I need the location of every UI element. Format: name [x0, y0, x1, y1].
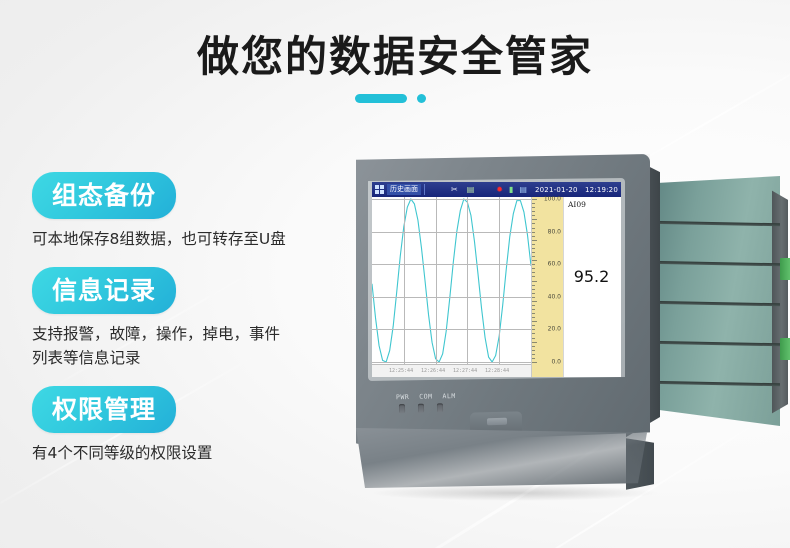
y-axis-tick-mark	[532, 219, 537, 220]
toolbar-datetime: 2021-01-20 12:19:20	[535, 186, 618, 194]
trend-chart: 12:25:4412:26:4412:27:4412:28:44 0.020.0…	[372, 197, 621, 377]
plot-area: 12:25:4412:26:4412:27:4412:28:44	[372, 197, 531, 377]
y-axis-tick-mark	[532, 199, 537, 200]
feature-description-logging: 支持报警，故障，操作，掉电，事件 列表等信息记录	[32, 323, 352, 370]
channel-value: 95.2	[564, 267, 619, 286]
time-axis: 12:25:4412:26:4412:27:4412:28:44	[372, 364, 531, 377]
gridline-horizontal	[372, 199, 531, 200]
y-axis-tick-mark	[532, 203, 535, 204]
feature-badge-logging: 信息记录	[32, 267, 176, 314]
y-axis-tick-mark	[532, 268, 535, 269]
y-axis-tick-mark	[532, 354, 535, 355]
y-axis-tick-mark	[532, 325, 535, 326]
y-axis-tick-mark	[532, 342, 537, 343]
save-icon[interactable]: ▤	[467, 186, 475, 194]
y-axis-tick-mark	[532, 313, 535, 314]
y-axis-tick-mark	[532, 236, 535, 237]
y-axis-tick-mark	[532, 256, 535, 257]
door-latch-tab[interactable]	[487, 418, 507, 426]
y-axis-tick-mark	[532, 321, 537, 322]
led-label-com: COM	[419, 392, 432, 400]
y-axis-tick-mark	[532, 244, 535, 245]
y-axis-tick-mark	[532, 362, 537, 363]
y-axis-tick-mark	[532, 309, 535, 310]
y-axis-tick-mark	[532, 297, 535, 298]
led-com	[418, 404, 424, 413]
front-flap	[347, 428, 647, 488]
time-axis-tick: 12:27:44	[453, 368, 477, 374]
toolbar-date: 2021-01-20	[535, 186, 578, 194]
y-axis-tick-label: 0.0	[551, 359, 561, 366]
time-axis-tick: 12:25:44	[389, 368, 413, 374]
y-axis-tick-mark	[532, 276, 535, 277]
feature-description-backup: 可本地保存8组数据，也可转存至U盘	[32, 228, 352, 251]
grid-icon[interactable]	[375, 185, 384, 194]
lock-icon[interactable]: ▮	[509, 186, 513, 194]
channel-label: AI09	[568, 200, 586, 209]
gridline-horizontal	[372, 362, 531, 363]
y-axis-tick-mark	[532, 333, 535, 334]
gridline-vertical	[499, 197, 500, 364]
gridline-vertical	[436, 197, 437, 364]
value-panel: AI09 95.2	[563, 197, 621, 377]
y-axis-tick-mark	[532, 293, 535, 294]
y-axis-tick-label: 20.0	[548, 326, 561, 333]
y-axis-tick-mark	[532, 346, 535, 347]
feature-description-line: 列表等信息记录	[32, 347, 352, 370]
y-axis-tick-mark	[532, 207, 535, 208]
y-axis-tick-mark	[532, 240, 537, 241]
y-axis-tick-mark	[532, 350, 535, 351]
gridline-horizontal	[372, 264, 531, 265]
y-axis-tick-mark	[532, 215, 535, 216]
scissors-icon[interactable]: ✂	[451, 186, 458, 194]
y-axis-tick-mark	[532, 317, 535, 318]
y-axis-tick-mark	[532, 232, 535, 233]
y-axis-tick-mark	[532, 285, 535, 286]
y-axis-tick-mark	[532, 264, 535, 265]
y-axis-tick-label: 100.0	[544, 196, 561, 203]
rear-module	[648, 176, 788, 426]
header: 做您的数据安全管家	[0, 34, 790, 104]
feature-description-line: 有4个不同等级的权限设置	[32, 442, 352, 465]
underline-dot	[417, 94, 426, 103]
y-axis-tick-label: 60.0	[548, 261, 561, 268]
led-labels: PWR COM ALM	[396, 391, 516, 402]
y-axis-tick-mark	[532, 289, 535, 290]
gridline-horizontal	[372, 329, 531, 330]
y-axis-tick-mark	[532, 228, 535, 229]
toolbar-icon-group-middle: ✂ ▤	[451, 186, 474, 194]
feature-description-line: 支持报警，故障，操作，掉电，事件	[32, 323, 352, 346]
feature-badge-permissions: 权限管理	[32, 386, 176, 433]
terminal-connector-green	[780, 338, 790, 360]
screen-mode-label[interactable]: 历史画面	[387, 184, 421, 195]
y-axis-tick-mark	[532, 272, 535, 273]
led-indicator-row: PWR COM ALM	[396, 392, 516, 412]
feature-description-permissions: 有4个不同等级的权限设置	[32, 442, 352, 465]
led-alm	[437, 403, 443, 412]
y-axis-tick-mark	[532, 252, 535, 253]
feature-description-line: 可本地保存8组数据，也可转存至U盘	[32, 228, 352, 251]
y-axis-tick-mark	[532, 329, 535, 330]
y-axis-tick-mark	[532, 281, 537, 282]
title-underline-decoration	[355, 94, 435, 104]
led-pwr	[399, 404, 405, 413]
time-axis-tick: 12:26:44	[421, 368, 445, 374]
gridline-horizontal	[372, 297, 531, 298]
feature-item-logging: 信息记录 支持报警，故障，操作，掉电，事件 列表等信息记录	[32, 267, 352, 370]
y-axis-tick-mark	[532, 211, 535, 212]
y-axis-strip: 0.020.040.060.080.0100.0	[531, 197, 563, 377]
lcd-screen: 历史画面 ✂ ▤ ✹ ▮ ▤ 2021-01-20 12:19:20 12:25…	[372, 182, 621, 377]
y-axis-tick-mark	[532, 338, 535, 339]
y-axis-tick-mark	[532, 301, 537, 302]
gridline-vertical	[404, 197, 405, 364]
screen-toolbar: 历史画面 ✂ ▤ ✹ ▮ ▤ 2021-01-20 12:19:20	[372, 182, 621, 197]
feature-badge-backup: 组态备份	[32, 172, 176, 219]
toolbar-time: 12:19:20	[585, 186, 618, 194]
feature-item-permissions: 权限管理 有4个不同等级的权限设置	[32, 386, 352, 465]
y-axis-tick-mark	[532, 260, 537, 261]
led-label-alm: ALM	[442, 392, 455, 400]
disk-icon[interactable]: ▤	[519, 186, 527, 194]
trend-trace	[372, 197, 531, 364]
y-axis-tick-label: 80.0	[548, 228, 561, 235]
feature-list: 组态备份 可本地保存8组数据，也可转存至U盘 信息记录 支持报警，故障，操作，掉…	[32, 172, 352, 481]
terminal-connector-green	[780, 258, 790, 280]
gridline-vertical	[467, 197, 468, 364]
y-axis-tick-mark	[532, 248, 535, 249]
y-axis-tick-mark	[532, 223, 535, 224]
page-title: 做您的数据安全管家	[0, 34, 790, 80]
alarm-icon[interactable]: ✹	[496, 186, 503, 194]
device-shadow	[370, 485, 660, 501]
toolbar-divider	[424, 184, 425, 195]
paperless-recorder-device: 历史画面 ✂ ▤ ✹ ▮ ▤ 2021-01-20 12:19:20 12:25…	[330, 140, 790, 510]
led-label-pwr: PWR	[396, 393, 409, 401]
y-axis-tick-label: 40.0	[548, 293, 561, 300]
toolbar-icon-group-right: ✹ ▮ ▤	[496, 186, 527, 194]
time-axis-tick: 12:28:44	[485, 368, 509, 374]
y-axis-tick-mark	[532, 305, 535, 306]
y-axis-tick-mark	[532, 358, 535, 359]
feature-item-backup: 组态备份 可本地保存8组数据，也可转存至U盘	[32, 172, 352, 251]
underline-bar	[355, 94, 407, 103]
gridline-horizontal	[372, 232, 531, 233]
